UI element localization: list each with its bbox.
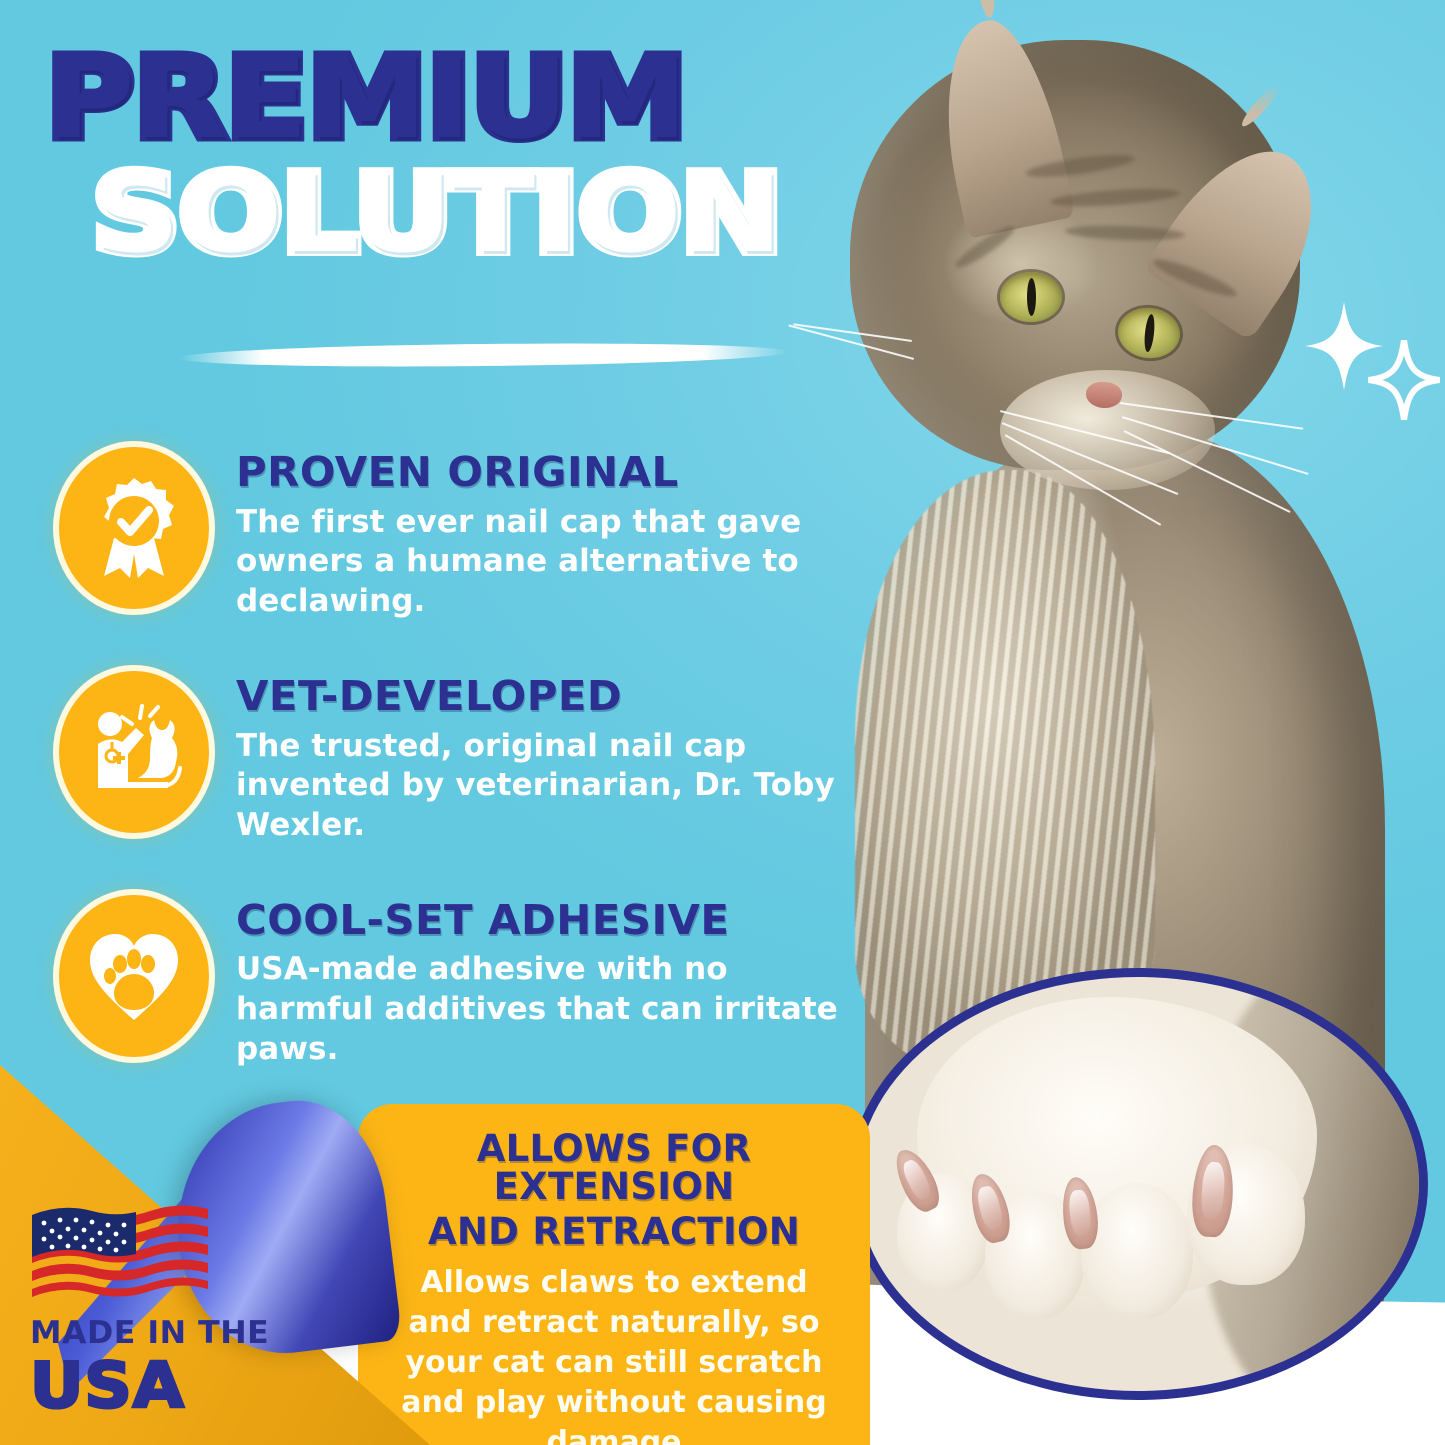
extension-retraction-callout: ALLOWS FOR EXTENSION AND RETRACTION Allo…	[358, 1104, 870, 1445]
made-in-usa-badge: MADE IN THE USA	[30, 1203, 280, 1417]
cat-eye-left	[1000, 272, 1062, 322]
headline-line-1: PREMIUM	[46, 46, 910, 154]
feature-title: VET-DEVELOPED	[236, 676, 881, 718]
feature-icon-wrap	[58, 448, 210, 608]
cat-ear-left	[924, 11, 1075, 239]
cat-paw-with-nail-caps-inset	[848, 968, 1428, 1400]
feature-description: The trusted, original nail cap invented …	[236, 727, 868, 846]
callout-title-line-1: ALLOWS FOR EXTENSION	[384, 1130, 844, 1207]
feature-icon-wrap	[58, 896, 210, 1056]
award-ribbon-check-icon	[66, 454, 202, 602]
feature-title: PROVEN ORIGINAL	[236, 452, 881, 494]
headline-line-2: SOLUTION	[92, 160, 944, 270]
made-in-usa-line-2: USA	[30, 1355, 295, 1417]
feature-text: COOL-SET ADHESIVE USA-made adhesive with…	[236, 896, 868, 1070]
made-in-usa-line-1: MADE IN THE	[30, 1318, 285, 1349]
feature-item: VET-DEVELOPED The trusted, original nail…	[58, 672, 868, 846]
cat-ear-tuft-left	[972, 0, 998, 19]
feature-list: PROVEN ORIGINAL The first ever nail cap …	[58, 448, 868, 1119]
product-marketing-image: PREMIUM SOLUTION PROVEN ORIGINAL Th	[0, 0, 1445, 1445]
vet-high-five-cat-icon	[66, 678, 202, 826]
callout-description: Allows claws to extend and retract natur…	[384, 1263, 844, 1445]
feature-description: The first ever nail cap that gave owners…	[236, 503, 868, 622]
feature-item: PROVEN ORIGINAL The first ever nail cap …	[58, 448, 868, 622]
feature-text: VET-DEVELOPED The trusted, original nail…	[236, 672, 868, 846]
heart-paw-icon	[66, 902, 202, 1050]
cat-eye-right	[1116, 305, 1183, 361]
cat-ear-tuft-right	[1238, 81, 1284, 130]
feature-icon-wrap	[58, 672, 210, 832]
callout-title-line-2: AND RETRACTION	[384, 1213, 844, 1251]
sparkle-outline-icon	[1368, 340, 1440, 420]
feature-title: COOL-SET ADHESIVE	[236, 900, 881, 942]
feature-text: PROVEN ORIGINAL The first ever nail cap …	[236, 448, 868, 622]
paw-toe	[1081, 1183, 1193, 1319]
feature-description: USA-made adhesive with no harmful additi…	[236, 950, 868, 1069]
usa-flag-icon	[30, 1203, 210, 1299]
feature-item: COOL-SET ADHESIVE USA-made adhesive with…	[58, 896, 868, 1070]
headline: PREMIUM SOLUTION	[46, 46, 846, 270]
